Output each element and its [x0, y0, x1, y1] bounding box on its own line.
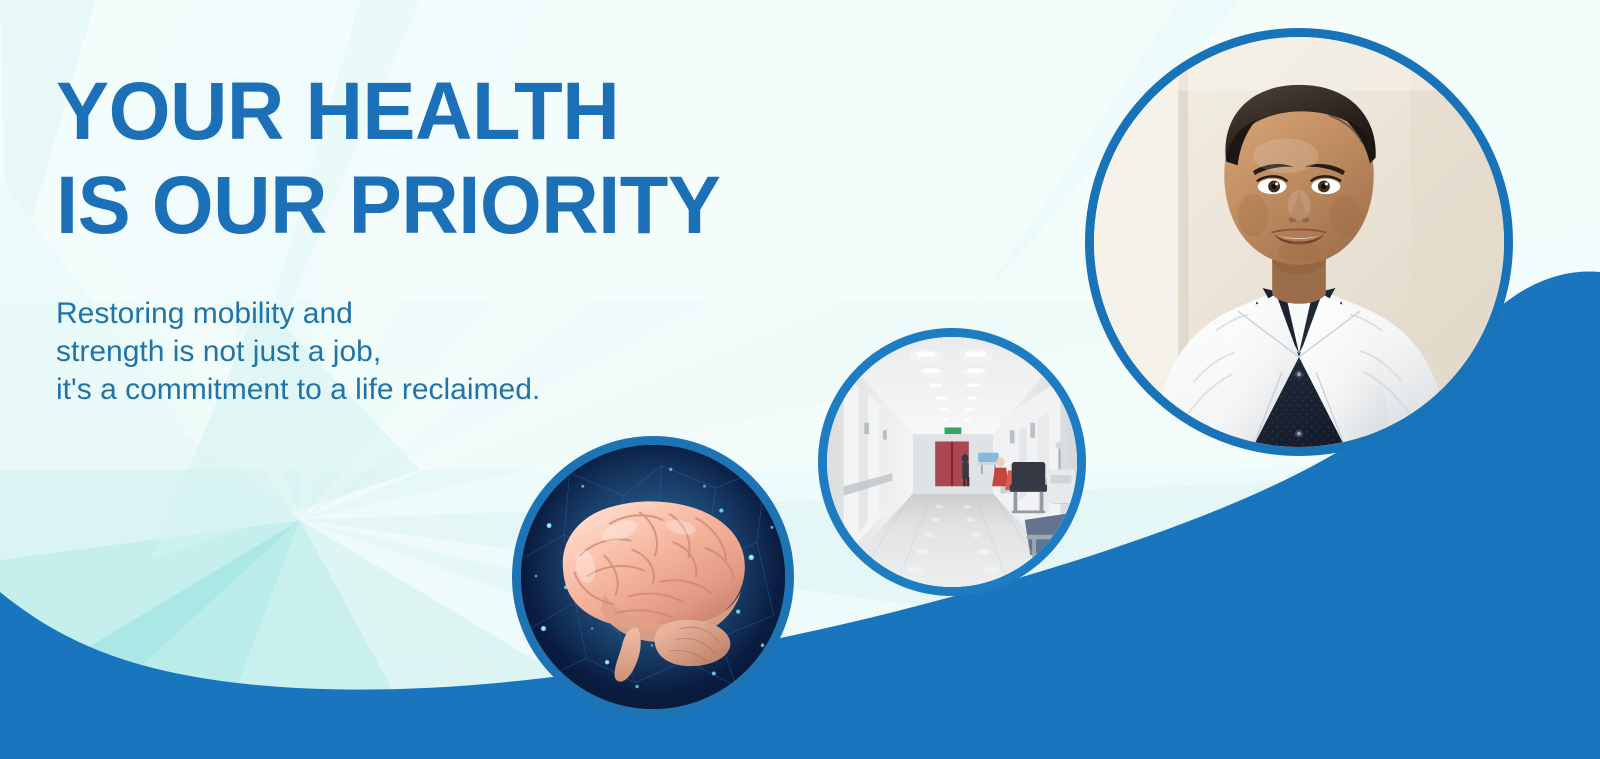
corridor-artwork [827, 337, 1077, 587]
hero-copy: YOUR HEALTHIS OUR PRIORITY Restoring mob… [56, 72, 876, 409]
hospital-corridor-photo [818, 328, 1086, 596]
headline-line-1: YOUR HEALTH [56, 66, 619, 157]
doctor-portrait [1085, 28, 1513, 456]
doctor-artwork [1094, 37, 1504, 447]
hero-subtitle: Restoring mobility and strength is not j… [56, 247, 876, 409]
brain-artwork [521, 445, 785, 709]
page-title: YOUR HEALTHIS OUR PRIORITY [56, 72, 851, 247]
brain-illustration [512, 436, 794, 718]
headline-line-2: IS OUR PRIORITY [56, 166, 851, 246]
hero-banner: YOUR HEALTHIS OUR PRIORITY Restoring mob… [0, 0, 1600, 759]
